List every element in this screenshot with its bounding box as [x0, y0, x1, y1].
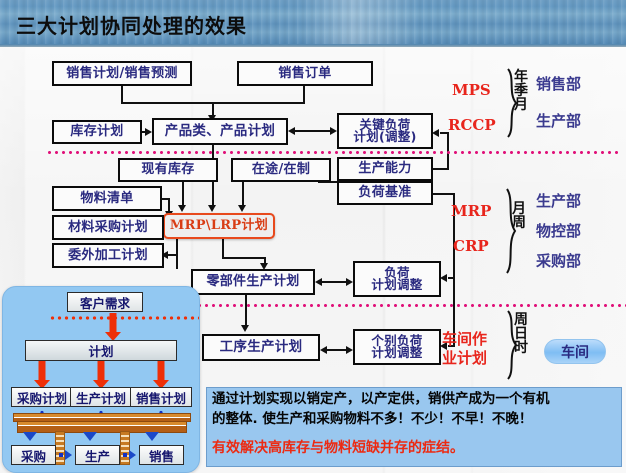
arrow-loadstd-to-loadadj: [440, 274, 447, 282]
box-load-adjust-line2: 计划调整: [371, 279, 422, 292]
box-inventory-plan[interactable]: 库存计划: [52, 120, 142, 144]
dept-sales: 销售部: [536, 73, 581, 94]
conn-product-keyload: [295, 130, 331, 132]
box-in-transit[interactable]: 在途/在制: [231, 158, 331, 182]
conn-loadstd-right: [433, 193, 455, 195]
conn-mrp-right2: [222, 257, 266, 259]
page-title: 三大计划协同处理的效果: [16, 10, 247, 39]
arrow-stock-to-mrp: [178, 205, 186, 212]
summary-highlight: 有效解决高库存与物料短缺并存的症结。: [212, 440, 618, 457]
box-individual-load-line2: 计划调整: [371, 347, 422, 360]
inset-square-b: [123, 453, 127, 457]
box-individual-load-adjust[interactable]: 个别负荷 计划调整: [353, 329, 441, 365]
arrow-transit-to-mrp: [238, 205, 246, 212]
inset-box-purchase-plan[interactable]: 采购计划: [11, 387, 73, 407]
arrow-parts-to-process: [241, 325, 249, 332]
slide-root: 三大计划协同处理的效果 销售计划/销售预测 销售订单 库存计划 产品类、产品计划…: [0, 0, 626, 473]
inset-box-plan[interactable]: 计划: [25, 340, 177, 361]
inset-dotted-separator: [49, 316, 199, 320]
conn-mrp-outsourcing: [167, 254, 178, 256]
box-sales-order[interactable]: 销售订单: [237, 61, 373, 86]
box-capacity[interactable]: 生产能力: [337, 157, 433, 181]
inset-panel: 客户需求 计划 采购计划 生产计划 销售计划: [2, 286, 200, 473]
arrow-loadadj-to-parts: [315, 278, 322, 286]
separator-mps-mrp: [46, 151, 618, 154]
inset-box-purchase[interactable]: 采购: [11, 445, 56, 465]
inset-box-sales[interactable]: 销售: [139, 445, 184, 465]
conn-salesplan-down: [121, 86, 123, 103]
box-bom[interactable]: 物料清单: [52, 186, 162, 211]
summary-line-1: 通过计划实现以销定产，以产定供，销供产成为一个有机: [212, 391, 618, 407]
label-mrp: MRP: [451, 202, 491, 220]
box-load-standard[interactable]: 负荷基准: [337, 181, 433, 205]
conn-parts-loadadj: [322, 281, 347, 283]
period-level-mrp: 月周: [511, 202, 527, 230]
inset-arrow-purchase-to-production: [65, 450, 72, 460]
inset-square-a: [59, 453, 63, 457]
period-level-mps: 年季月: [513, 70, 529, 112]
period-level-shopfloor: 周日时: [513, 313, 529, 355]
inset-arrow-plan-to-production: [93, 361, 109, 389]
conn-mrp-down2: [222, 239, 224, 259]
conn-stock-down: [182, 182, 184, 207]
arrow-inv-to-product: [145, 128, 152, 136]
inset-arrow-production-to-sales: [129, 450, 136, 460]
label-rccp: RCCP: [448, 116, 496, 134]
label-shopfloor-line1: 车间作: [442, 328, 487, 349]
arrow-process-to-indload: [346, 346, 353, 354]
dept-production-l1: 生产部: [536, 110, 581, 131]
box-key-load-plan-line2: 计划(调整): [353, 131, 416, 144]
box-process-production-plan[interactable]: 工序生产计划: [202, 334, 320, 361]
label-crp: CRP: [453, 237, 489, 255]
header-gloss: [300, 0, 420, 46]
inset-box-customer-demand[interactable]: 客户需求: [67, 292, 143, 312]
dept-material-control: 物控部: [536, 220, 581, 241]
summary-line-2: 的整体. 使生产和采购物料不多！不少！不早！不晚！: [212, 411, 618, 427]
box-sales-plan-forecast[interactable]: 销售计划/销售预测: [52, 61, 192, 86]
label-shopfloor-line2: 业计划: [442, 347, 487, 368]
conn-parts-to-process: [245, 295, 247, 327]
dept-production-l2: 生产部: [536, 190, 581, 211]
conn-salesorder-down: [303, 86, 305, 103]
inset-pole-left: [55, 431, 65, 465]
inset-box-sales-plan[interactable]: 销售计划: [130, 387, 192, 407]
box-mrp-lrp-plan[interactable]: MRP\LRP计划: [163, 213, 275, 239]
inset-triangle-production: [83, 432, 97, 441]
box-key-load-plan[interactable]: 关键负荷 计划(调整): [337, 113, 433, 149]
inset-box-production-plan[interactable]: 生产计划: [70, 387, 132, 407]
arrow-keyload-to-product: [288, 127, 295, 135]
inset-bar-bottom: [17, 421, 187, 433]
box-material-purchase-plan[interactable]: 材料采购计划: [52, 215, 164, 240]
arrow-indload-to-process: [320, 346, 327, 354]
inset-triangle-purchase: [23, 432, 37, 441]
slide-header: 三大计划协同处理的效果: [0, 0, 626, 46]
conn-process-indload: [327, 349, 347, 351]
dept-purchasing: 采购部: [536, 250, 581, 271]
inset-arrow-plan-to-purchase: [34, 361, 50, 389]
inset-triangle-sales: [145, 432, 159, 441]
box-parts-production-plan[interactable]: 零部件生产计划: [191, 269, 315, 295]
label-mps: MPS: [452, 81, 491, 99]
badge-workshop[interactable]: 车间: [544, 339, 606, 364]
box-product-class-plan[interactable]: 产品类、产品计划: [152, 118, 288, 145]
arrow-product-to-keyload: [330, 127, 337, 135]
box-current-stock[interactable]: 现有库存: [118, 158, 218, 182]
conn-transit-down: [242, 182, 244, 207]
arrow-productplan-to-mrp: [208, 205, 216, 212]
arrow-parts-to-loadadj: [346, 278, 353, 286]
box-load-adjust[interactable]: 负荷 计划调整: [353, 261, 441, 297]
inset-box-production[interactable]: 生产: [75, 445, 120, 465]
conn-join-to-product: [212, 102, 214, 116]
box-outsourcing-plan[interactable]: 委外加工计划: [52, 243, 164, 268]
arrow-capacity-to-keyload: [432, 129, 439, 137]
inset-arrow-plan-to-sales: [153, 361, 169, 389]
